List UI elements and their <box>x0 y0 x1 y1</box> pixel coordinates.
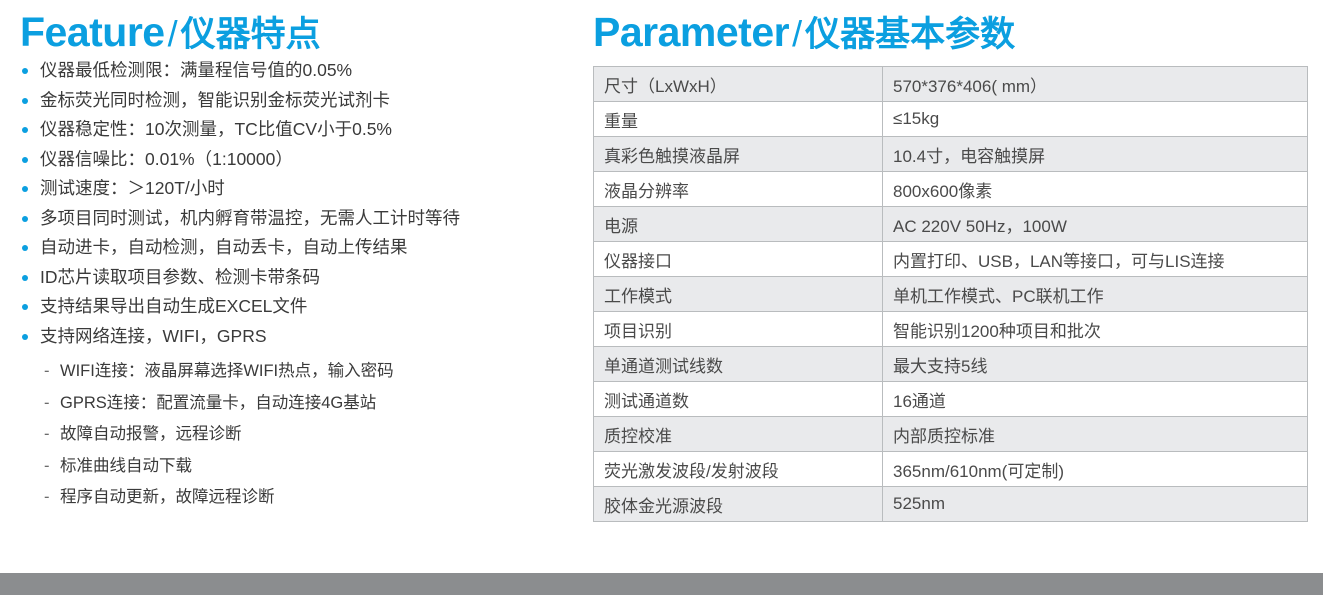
table-row: 单通道测试线数 最大支持5线 <box>594 347 1308 382</box>
list-item-label: 仪器最低检测限：满量程信号值的0.05% <box>40 60 352 80</box>
parameter-heading-cn: 仪器基本参数 <box>805 15 1015 54</box>
list-item: 自动进卡，自动检测，自动丢卡，自动上传结果 <box>20 239 569 257</box>
table-cell-value: 570*376*406( mm） <box>883 67 1308 102</box>
list-item-label: GPRS连接：配置流量卡，自动连接4G基站 <box>60 394 376 412</box>
list-item: 多项目同时测试，机内孵育带温控，无需人工计时等待 <box>20 210 569 228</box>
footer-bar-right <box>583 573 1323 595</box>
dash-icon: - <box>44 363 50 380</box>
bullet-dot-icon <box>22 98 28 104</box>
table-row: 荧光激发波段/发射波段 365nm/610nm(可定制) <box>594 452 1308 487</box>
feature-heading-cn: 仪器特点 <box>181 15 321 54</box>
list-item: ID芯片读取项目参数、检测卡带条码 <box>20 269 569 287</box>
table-row: 测试通道数 16通道 <box>594 382 1308 417</box>
table-cell-value: 800x600像素 <box>883 172 1308 207</box>
feature-heading-slash: / <box>165 13 181 54</box>
table-cell-key: 测试通道数 <box>594 382 883 417</box>
table-row: 工作模式 单机工作模式、PC联机工作 <box>594 277 1308 312</box>
table-cell-key: 真彩色触摸液晶屏 <box>594 137 883 172</box>
dash-icon: - <box>44 426 50 443</box>
dash-icon: - <box>44 395 50 412</box>
list-item: -故障自动报警，远程诊断 <box>44 426 569 443</box>
table-cell-value: 365nm/610nm(可定制) <box>883 452 1308 487</box>
footer-bar-left <box>0 573 583 595</box>
feature-bullet-list: 仪器最低检测限：满量程信号值的0.05% 金标荧光同时检测，智能识别金标荧光试剂… <box>20 62 569 345</box>
feature-section: Feature/仪器特点 仪器最低检测限：满量程信号值的0.05% 金标荧光同时… <box>0 0 583 595</box>
table-cell-value: 525nm <box>883 487 1308 522</box>
table-cell-key: 质控校准 <box>594 417 883 452</box>
bullet-dot-icon <box>22 275 28 281</box>
parameter-section: Parameter/仪器基本参数 尺寸（LxWxH） 570*376*406( … <box>583 0 1323 595</box>
table-cell-key: 荧光激发波段/发射波段 <box>594 452 883 487</box>
list-item-label: 支持结果导出自动生成EXCEL文件 <box>40 296 307 316</box>
table-row: 胶体金光源波段 525nm <box>594 487 1308 522</box>
bullet-dot-icon <box>22 157 28 163</box>
bullet-dot-icon <box>22 127 28 133</box>
table-cell-key: 尺寸（LxWxH） <box>594 67 883 102</box>
table-row: 项目识别 智能识别1200种项目和批次 <box>594 312 1308 347</box>
list-item-label: 自动进卡，自动检测，自动丢卡，自动上传结果 <box>40 237 408 257</box>
list-item-label: 仪器稳定性：10次测量，TC比值CV小于0.5% <box>40 119 392 139</box>
table-cell-key: 电源 <box>594 207 883 242</box>
list-item-label: 支持网络连接，WIFI，GPRS <box>40 326 267 346</box>
list-item: -GPRS连接：配置流量卡，自动连接4G基站 <box>44 395 569 412</box>
bullet-dot-icon <box>22 334 28 340</box>
list-item-label: 测试速度：＞120T/小时 <box>40 178 225 198</box>
bullet-dot-icon <box>22 304 28 310</box>
parameter-heading-slash: / <box>789 13 805 54</box>
list-item-label: 金标荧光同时检测，智能识别金标荧光试剂卡 <box>40 90 390 110</box>
table-row: 重量 ≤15kg <box>594 102 1308 137</box>
list-item-label: WIFI连接：液晶屏幕选择WIFI热点，输入密码 <box>60 362 394 380</box>
table-row: 尺寸（LxWxH） 570*376*406( mm） <box>594 67 1308 102</box>
table-cell-key: 仪器接口 <box>594 242 883 277</box>
dash-icon: - <box>44 489 50 506</box>
list-item-label: 多项目同时测试，机内孵育带温控，无需人工计时等待 <box>40 208 460 228</box>
table-row: 电源 AC 220V 50Hz，100W <box>594 207 1308 242</box>
parameter-heading-en: Parameter <box>593 9 789 55</box>
table-cell-key: 单通道测试线数 <box>594 347 883 382</box>
table-row: 质控校准 内部质控标准 <box>594 417 1308 452</box>
list-item: 支持网络连接，WIFI，GPRS <box>20 328 569 346</box>
list-item-label: 故障自动报警，远程诊断 <box>60 425 242 443</box>
table-row: 仪器接口 内置打印、USB，LAN等接口，可与LIS连接 <box>594 242 1308 277</box>
list-item: 仪器信噪比：0.01%（1:10000） <box>20 151 569 169</box>
table-cell-key: 工作模式 <box>594 277 883 312</box>
bullet-dot-icon <box>22 245 28 251</box>
table-cell-key: 胶体金光源波段 <box>594 487 883 522</box>
list-item: 支持结果导出自动生成EXCEL文件 <box>20 298 569 316</box>
parameter-table: 尺寸（LxWxH） 570*376*406( mm） 重量 ≤15kg 真彩色触… <box>593 66 1308 522</box>
table-row: 真彩色触摸液晶屏 10.4寸，电容触摸屏 <box>594 137 1308 172</box>
bullet-dot-icon <box>22 216 28 222</box>
table-cell-value: 16通道 <box>883 382 1308 417</box>
list-item: -程序自动更新，故障远程诊断 <box>44 489 569 506</box>
table-cell-value: 10.4寸，电容触摸屏 <box>883 137 1308 172</box>
table-cell-value: 智能识别1200种项目和批次 <box>883 312 1308 347</box>
dash-icon: - <box>44 458 50 475</box>
bullet-dot-icon <box>22 186 28 192</box>
list-item-label: 标准曲线自动下载 <box>60 457 192 475</box>
list-item-label: ID芯片读取项目参数、检测卡带条码 <box>40 267 320 287</box>
list-item-label: 程序自动更新，故障远程诊断 <box>60 488 275 506</box>
table-row: 液晶分辨率 800x600像素 <box>594 172 1308 207</box>
list-item: 仪器最低检测限：满量程信号值的0.05% <box>20 62 569 80</box>
bullet-dot-icon <box>22 68 28 74</box>
feature-sub-list: -WIFI连接：液晶屏幕选择WIFI热点，输入密码 -GPRS连接：配置流量卡，… <box>20 363 569 506</box>
parameter-heading: Parameter/仪器基本参数 <box>593 8 1307 56</box>
list-item: 测试速度：＞120T/小时 <box>20 180 569 198</box>
list-item: 仪器稳定性：10次测量，TC比值CV小于0.5% <box>20 121 569 139</box>
feature-heading: Feature/仪器特点 <box>20 8 569 56</box>
table-cell-value: 最大支持5线 <box>883 347 1308 382</box>
table-cell-key: 液晶分辨率 <box>594 172 883 207</box>
table-cell-key: 项目识别 <box>594 312 883 347</box>
table-cell-value: AC 220V 50Hz，100W <box>883 207 1308 242</box>
table-cell-value: ≤15kg <box>883 102 1308 137</box>
feature-heading-en: Feature <box>20 9 165 55</box>
list-item: -WIFI连接：液晶屏幕选择WIFI热点，输入密码 <box>44 363 569 380</box>
table-cell-value: 内置打印、USB，LAN等接口，可与LIS连接 <box>883 242 1308 277</box>
list-item: -标准曲线自动下载 <box>44 458 569 475</box>
list-item-label: 仪器信噪比：0.01%（1:10000） <box>40 149 293 169</box>
table-cell-value: 单机工作模式、PC联机工作 <box>883 277 1308 312</box>
slide-page: Feature/仪器特点 仪器最低检测限：满量程信号值的0.05% 金标荧光同时… <box>0 0 1323 595</box>
table-cell-value: 内部质控标准 <box>883 417 1308 452</box>
table-cell-key: 重量 <box>594 102 883 137</box>
list-item: 金标荧光同时检测，智能识别金标荧光试剂卡 <box>20 92 569 110</box>
